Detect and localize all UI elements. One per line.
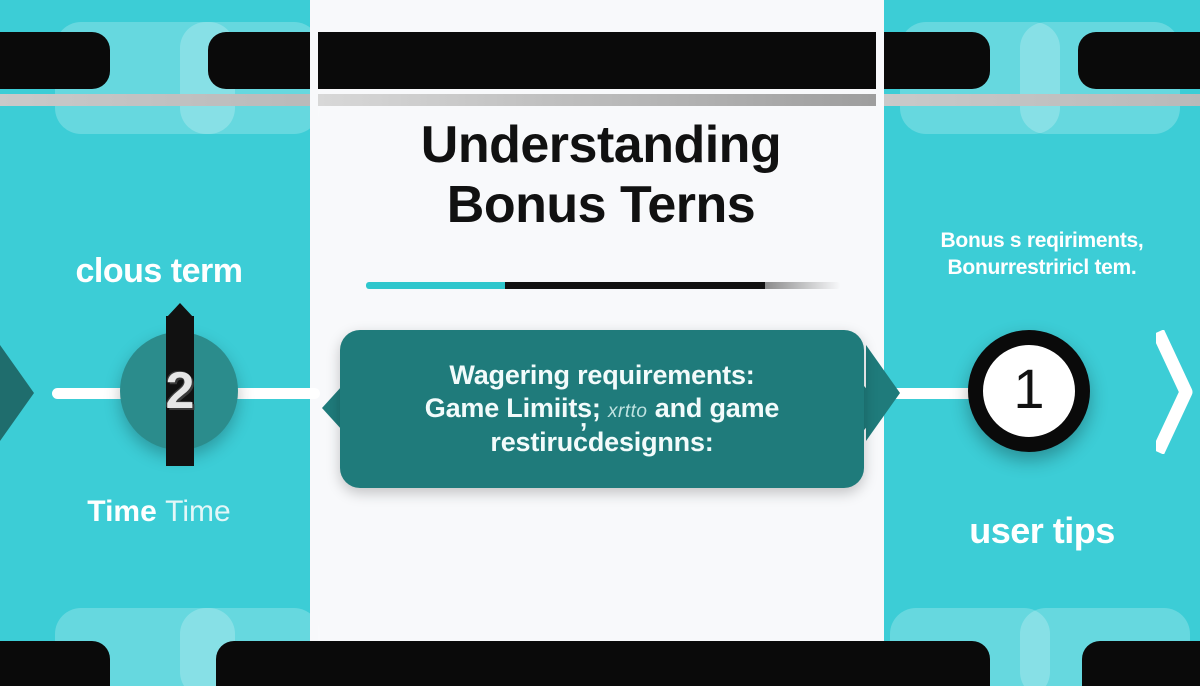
divider-rule-right bbox=[884, 94, 1200, 106]
panel-gap-left bbox=[310, 0, 318, 686]
chevron-right-edge-icon bbox=[1156, 330, 1200, 454]
callout-line-2-faint: xrtto bbox=[608, 401, 647, 422]
top-bar-segment-center bbox=[208, 32, 990, 89]
right-panel-bottom-label: user tips bbox=[884, 510, 1200, 552]
bottom-bar-segment-left bbox=[0, 641, 110, 686]
callout-line-2-b: and game bbox=[655, 393, 779, 423]
right-top-label-line-1: Bonus s reqiriments, bbox=[884, 228, 1200, 255]
infographic-canvas: Understanding Bonus Terns Wagering requi… bbox=[0, 0, 1200, 686]
page-title: Understanding Bonus Terns bbox=[318, 118, 884, 232]
title-line-2: Bonus Terns bbox=[318, 178, 884, 232]
left-bottom-label-soft: Time bbox=[165, 495, 231, 528]
callout-box: Wagering requirements: Game Limiits; xrt… bbox=[340, 330, 864, 488]
callout-notch-left-icon bbox=[322, 386, 342, 430]
chevron-left-edge-icon bbox=[0, 345, 34, 441]
callout-line-1: Wagering requirements: bbox=[449, 359, 754, 392]
bottom-bar-segment-center bbox=[216, 641, 990, 686]
step-badge-1[interactable]: 1 bbox=[968, 330, 1090, 452]
right-panel-top-label: Bonus s reqiriments, Bonurrestriricl tem… bbox=[884, 228, 1200, 282]
callout-line-3: restiruc̓designns: bbox=[490, 426, 713, 459]
callout-notch-right-icon bbox=[864, 386, 884, 430]
right-top-label-line-2: Bonurrestriricl tem. bbox=[884, 255, 1200, 282]
badge-2-number: 2 bbox=[120, 332, 238, 450]
step-badge-2[interactable]: 2 bbox=[120, 332, 238, 450]
divider-rule-center bbox=[318, 94, 884, 106]
bottom-bar-segment-right bbox=[1082, 641, 1200, 686]
badge-1-number: 1 bbox=[1013, 361, 1044, 417]
title-underline-rule bbox=[366, 282, 840, 289]
left-panel-bottom-label: Time Time bbox=[0, 495, 318, 529]
panel-gap-right bbox=[876, 0, 884, 686]
title-line-1: Understanding bbox=[318, 118, 884, 172]
divider-rule-left bbox=[0, 94, 318, 106]
callout-line-2-a: Game Limiits; bbox=[425, 393, 601, 423]
left-bottom-label-bold: Time bbox=[87, 495, 156, 528]
left-panel-top-label: clous term bbox=[0, 252, 318, 291]
top-bar-segment-right bbox=[1078, 32, 1200, 89]
top-bar-segment-left bbox=[0, 32, 110, 89]
callout-line-2: Game Limiits; xrtto and game bbox=[425, 392, 779, 425]
